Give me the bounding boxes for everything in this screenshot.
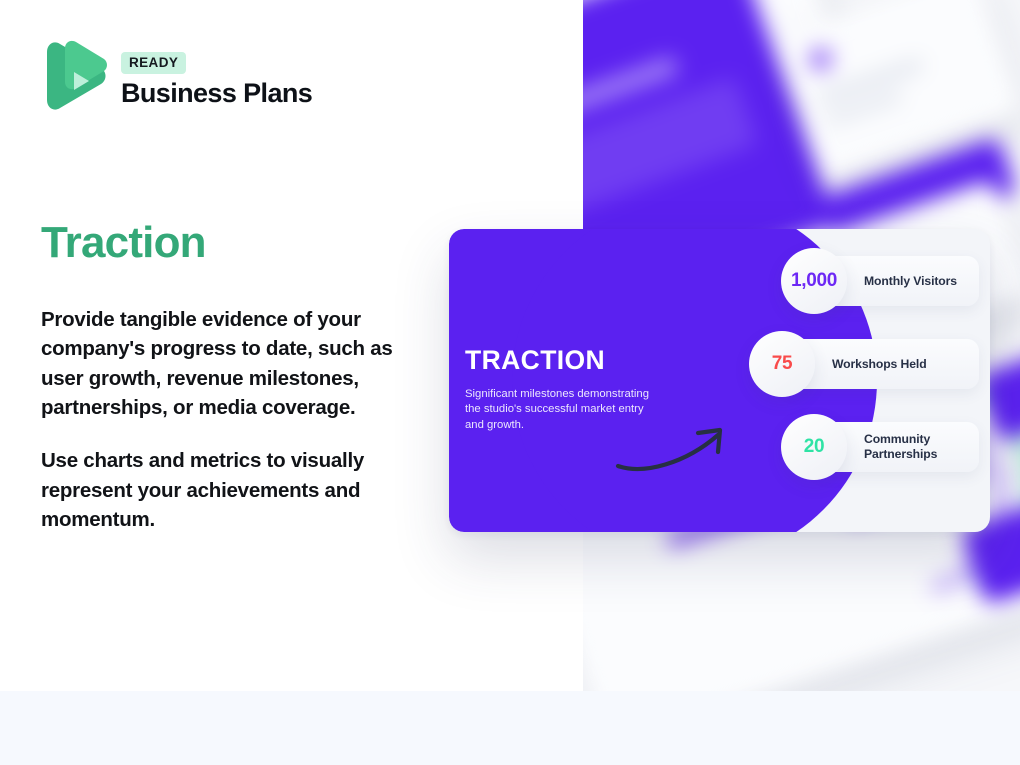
stat-circle: 75 xyxy=(749,331,815,397)
background-bar xyxy=(817,58,925,105)
stat-row[interactable]: 1,000 Monthly Visitors xyxy=(781,250,979,312)
brand-text: READY Business Plans xyxy=(121,50,312,109)
stat-value: 20 xyxy=(804,436,825,458)
slide-page: READY Business Plans Traction Provide ta… xyxy=(0,0,1020,765)
brand-title: Business Plans xyxy=(121,78,312,109)
body-copy: Provide tangible evidence of your compan… xyxy=(41,305,431,534)
stat-circle: 20 xyxy=(781,414,847,480)
stat-label: Monthly Visitors xyxy=(864,274,957,289)
stat-row[interactable]: 75 Workshops Held xyxy=(749,333,979,395)
background-bar xyxy=(583,76,759,226)
slide-title: TRACTION xyxy=(465,347,680,374)
footer-strip xyxy=(0,691,1020,765)
body-paragraph-1: Provide tangible evidence of your compan… xyxy=(41,305,431,422)
stat-row[interactable]: 20 Community Partnerships xyxy=(781,416,979,478)
page-title: Traction xyxy=(41,218,206,268)
background-dot xyxy=(807,45,835,73)
stat-label: Community Partnerships xyxy=(864,432,960,462)
ready-badge: READY xyxy=(121,52,186,74)
play-triangle-logo-icon xyxy=(41,38,107,120)
stat-label: Workshops Held xyxy=(832,357,927,372)
brand-lockup: READY Business Plans xyxy=(41,38,312,120)
curved-arrow-up-right-icon xyxy=(614,419,734,479)
stats-list: 1,000 Monthly Visitors 75 Workshops Held… xyxy=(749,250,979,499)
stat-circle: 1,000 xyxy=(781,248,847,314)
slide-preview-card[interactable]: TRACTION Significant milestones demonstr… xyxy=(449,229,990,532)
stat-value: 75 xyxy=(772,353,793,375)
stat-value: 1,000 xyxy=(791,270,837,292)
body-paragraph-2: Use charts and metrics to visually repre… xyxy=(41,446,431,534)
